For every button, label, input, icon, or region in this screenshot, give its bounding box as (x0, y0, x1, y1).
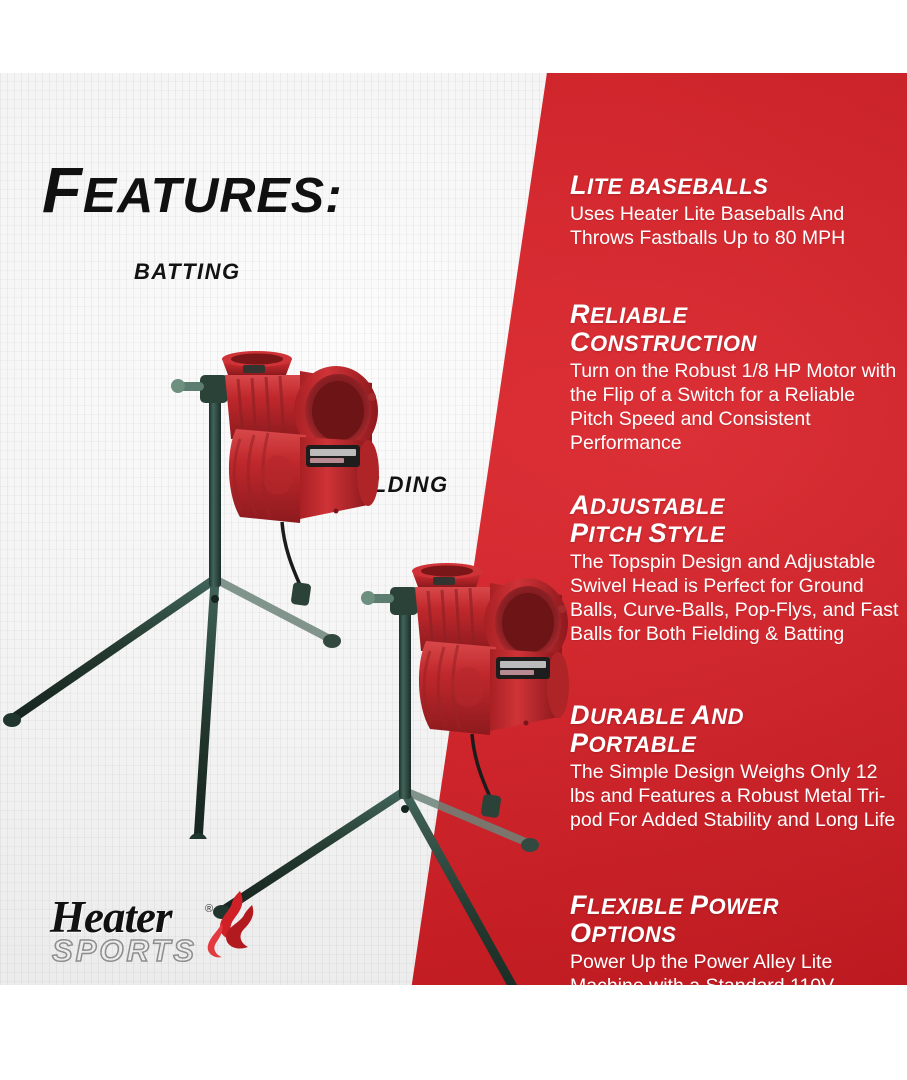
heading-rest: URABLE (590, 704, 691, 729)
heading-initial-3: O (570, 918, 592, 948)
page-title-rest: EATURES: (83, 169, 343, 223)
heading-initial: F (570, 890, 587, 920)
swivel-knob (361, 587, 418, 615)
feature-body-main: Power Up the Power Alley Lite Machine wi… (570, 951, 889, 985)
feature-block-flexible-power-options: FLEXIBLE POWER OPTIONS Power Up the Powe… (570, 891, 900, 985)
logo-subword: SPORTS (52, 933, 197, 969)
heading-rest-3: PTIONS (592, 922, 677, 947)
ball-hopper (412, 563, 482, 587)
heading-rest-3: ORTABLE (589, 732, 697, 757)
wheel-housing (419, 641, 496, 735)
feature-heading: DURABLE AND PORTABLE (570, 701, 900, 757)
feature-body: Turn on the Robust 1/8 HP Motor with the… (570, 360, 900, 455)
heading-rest-2: ITCH (589, 522, 649, 547)
feature-body: The Topspin Design and Adjustable Swivel… (570, 551, 900, 646)
feature-block-reliable-construction: RELIABLE CONSTRUCTION Turn on the Robust… (570, 300, 900, 455)
heading-initial-3: S (648, 518, 667, 548)
heading-initial: L (570, 170, 587, 200)
heading-initial: A (570, 490, 590, 520)
swivel-knob (171, 375, 228, 403)
motor-housing (490, 649, 569, 731)
power-cord (472, 734, 501, 818)
feature-body: Power Up the Power Alley Lite Machine wi… (570, 951, 900, 985)
page-title: FEATURES: (42, 158, 343, 222)
heading-initial-2: P (690, 890, 709, 920)
heading-rest: DJUSTABLE (590, 494, 725, 519)
heading-initial-2: P (570, 518, 589, 548)
heading-initial: R (570, 299, 590, 329)
heading-initial-2: C (570, 327, 590, 357)
feature-heading: LITE BASEBALLS (570, 171, 900, 199)
tripod-mast (399, 591, 411, 799)
flame-icon (200, 889, 262, 961)
heading-rest-2: ONSTRUCTION (590, 331, 757, 356)
heading-initial-3: P (570, 728, 589, 758)
brand-logo: Heater ® SPORTS (50, 893, 265, 965)
feature-block-adjustable-pitch-style: ADJUSTABLE PITCH STYLE The Topspin Desig… (570, 491, 900, 646)
heading-rest-3: TYLE (667, 522, 725, 547)
feature-body: Uses Heater Lite Baseballs And Throws Fa… (570, 203, 900, 251)
feature-block-durable-and-portable: DURABLE AND PORTABLE The Simple Design W… (570, 701, 900, 833)
heading-rest: ELIABLE (590, 303, 688, 328)
page-title-initial: F (42, 154, 83, 226)
feature-block-lite-baseballs: LITE BASEBALLS Uses Heater Lite Baseball… (570, 171, 900, 251)
heading-initial-2: A (691, 700, 711, 730)
heading-initial: D (570, 700, 590, 730)
ball-hopper (222, 351, 292, 375)
feature-heading: ADJUSTABLE PITCH STYLE (570, 491, 900, 547)
promo-graphic: FEATURES: BATTING FIELDING (0, 73, 907, 985)
heading-rest-2: OWER (709, 894, 779, 919)
feature-body: The Simple Design Weighs Only 12 lbs and… (570, 761, 900, 832)
heading-rest-2: ND (711, 704, 744, 729)
heading-rest: ITE BASEBALLS (587, 174, 768, 199)
heading-rest: LEXIBLE (587, 894, 690, 919)
feature-heading: RELIABLE CONSTRUCTION (570, 300, 900, 356)
feature-heading: FLEXIBLE POWER OPTIONS (570, 891, 900, 947)
